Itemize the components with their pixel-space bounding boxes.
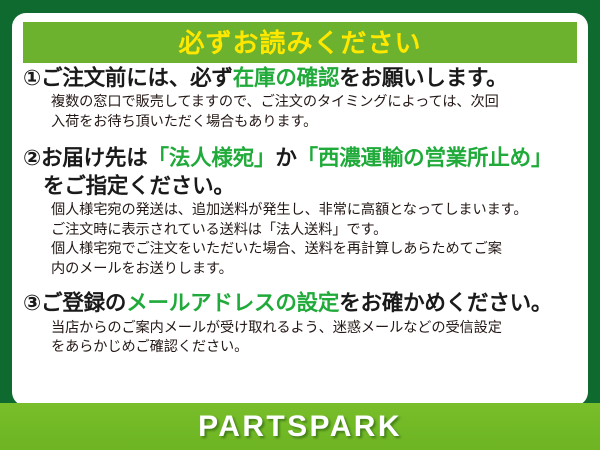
notice-item-2-body-line-2: ご注文時に表示されている送料は「法人送料」です。 [51, 221, 582, 241]
notice-item-2: ②お届け先は「法人様宛」か「西濃運輸の営業所止め」をご指定ください。 個人様宅宛… [23, 145, 582, 279]
notice-item-3-marker: ③ [23, 291, 41, 315]
notice-item-3-body-line-1: 当店からのご案内メールが受け取れるよう、迷惑メールなどの受信設定 [51, 319, 582, 339]
notice-item-2-heading-highlight: 「法人様宛」 [148, 146, 276, 170]
notice-panel: 必ずお読みください ①ご注文前には、必ず在庫の確認をお願いします。 複数の窓口で… [12, 13, 588, 406]
notice-item-2-marker: ② [23, 146, 41, 170]
notice-item-2-body-line-3: 個人様宅宛でご注文をいただいた場合、送料を再計算しあらためてご案 [51, 240, 582, 260]
notice-item-1-heading-highlight: 在庫の確認 [233, 66, 340, 90]
notice-title-band: 必ずお読みください [23, 22, 577, 63]
notice-item-3-body: 当店からのご案内メールが受け取れるよう、迷惑メールなどの受信設定 をあらかじめご… [51, 319, 582, 358]
notice-item-2-body-line-4: 内のメールをお送りします。 [51, 260, 582, 280]
notice-item-2-heading-highlight-2: 「西濃運輸の営業所止め」 [297, 146, 553, 170]
notice-item-2-body-line-1: 個人様宅宛の発送は、追加送料が発生し、非常に高額となってしまいます。 [51, 201, 582, 221]
notice-item-3: ③ご登録のメールアドレスの設定をお確かめください。 当店からのご案内メールが受け… [23, 290, 582, 357]
notice-item-3-heading: ③ご登録のメールアドレスの設定をお確かめください。 [23, 290, 582, 317]
notice-item-1-body: 複数の窓口で販売してますので、ご注文のタイミングによっては、次回 入荷をお待ち頂… [51, 93, 582, 132]
notice-item-2-heading: ②お届け先は「法人様宛」か「西濃運輸の営業所止め」をご指定ください。 [23, 145, 582, 200]
notice-item-1-heading: ①ご注文前には、必ず在庫の確認をお願いします。 [23, 65, 582, 92]
notice-item-2-heading-pre: お届け先は [41, 146, 148, 170]
notice-item-2-heading-post: をご指定ください。 [43, 174, 235, 198]
notice-item-3-heading-pre: ご登録の [41, 291, 126, 315]
notice-item-2-heading-mid: か [275, 146, 296, 170]
notice-footer: PARTSPARK [0, 403, 600, 450]
notice-content: ①ご注文前には、必ず在庫の確認をお願いします。 複数の窓口で販売してますので、ご… [12, 65, 588, 358]
notice-item-1: ①ご注文前には、必ず在庫の確認をお願いします。 複数の窓口で販売してますので、ご… [23, 65, 582, 132]
notice-banner: 必ずお読みください ①ご注文前には、必ず在庫の確認をお願いします。 複数の窓口で… [0, 0, 600, 450]
brand-logo: PARTSPARK [198, 412, 402, 442]
notice-item-1-body-line-2: 入荷をお待ち頂いただく場合もあります。 [51, 113, 582, 133]
notice-item-2-body: 個人様宅宛の発送は、追加送料が発生し、非常に高額となってしまいます。 ご注文時に… [51, 201, 582, 279]
notice-item-1-marker: ① [23, 66, 41, 90]
notice-item-1-heading-post: をお願いします。 [339, 66, 507, 90]
notice-item-3-heading-highlight: メールアドレスの設定 [126, 291, 339, 315]
notice-item-1-body-line-1: 複数の窓口で販売してますので、ご注文のタイミングによっては、次回 [51, 93, 582, 113]
notice-title: 必ずお読みください [178, 30, 421, 56]
notice-item-1-heading-pre: ご注文前には、必ず [41, 66, 233, 90]
notice-item-3-heading-post: をお確かめください。 [339, 291, 552, 315]
notice-item-3-body-line-2: をあらかじめご確認ください。 [51, 338, 582, 358]
